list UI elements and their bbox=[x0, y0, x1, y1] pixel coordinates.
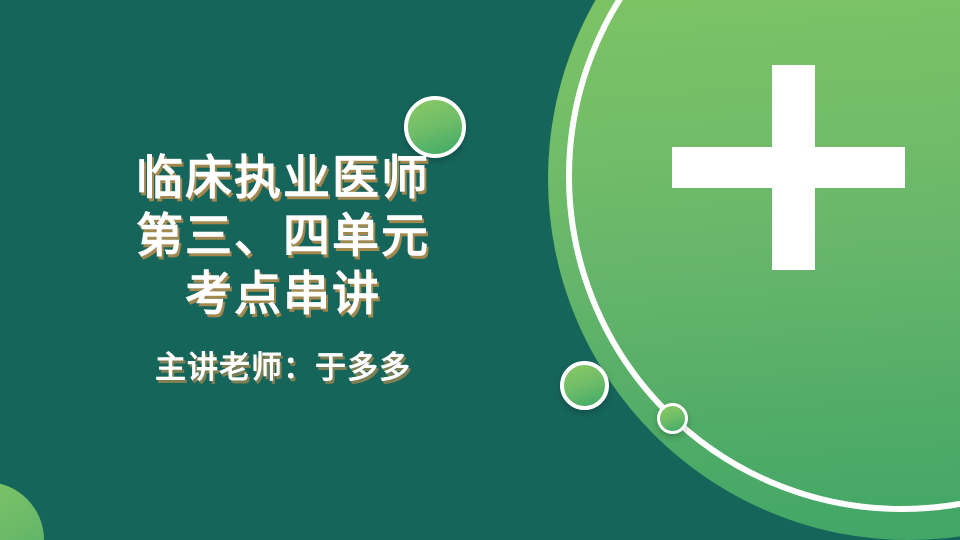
medical-cross-icon-horizontal-bar bbox=[672, 147, 905, 188]
corner-green-blob bbox=[0, 482, 44, 540]
title-line-2: 第三、四单元 bbox=[0, 208, 566, 266]
title-text-block: 临床执业医师 第三、四单元 考点串讲 主讲老师：于多多 bbox=[0, 150, 566, 388]
medical-cross-icon-vertical-bar bbox=[772, 65, 815, 270]
title-line-3: 考点串讲 bbox=[0, 266, 566, 324]
title-slide: 临床执业医师 第三、四单元 考点串讲 主讲老师：于多多 bbox=[0, 0, 960, 540]
presenter-subtitle: 主讲老师：于多多 bbox=[0, 348, 566, 388]
accent-circle-large bbox=[404, 96, 466, 158]
white-arc-ring bbox=[566, 0, 960, 512]
large-green-circle bbox=[548, 0, 960, 540]
title-line-1: 临床执业医师 bbox=[0, 150, 566, 208]
accent-circle-medium bbox=[560, 361, 609, 410]
accent-circle-small bbox=[657, 403, 688, 434]
